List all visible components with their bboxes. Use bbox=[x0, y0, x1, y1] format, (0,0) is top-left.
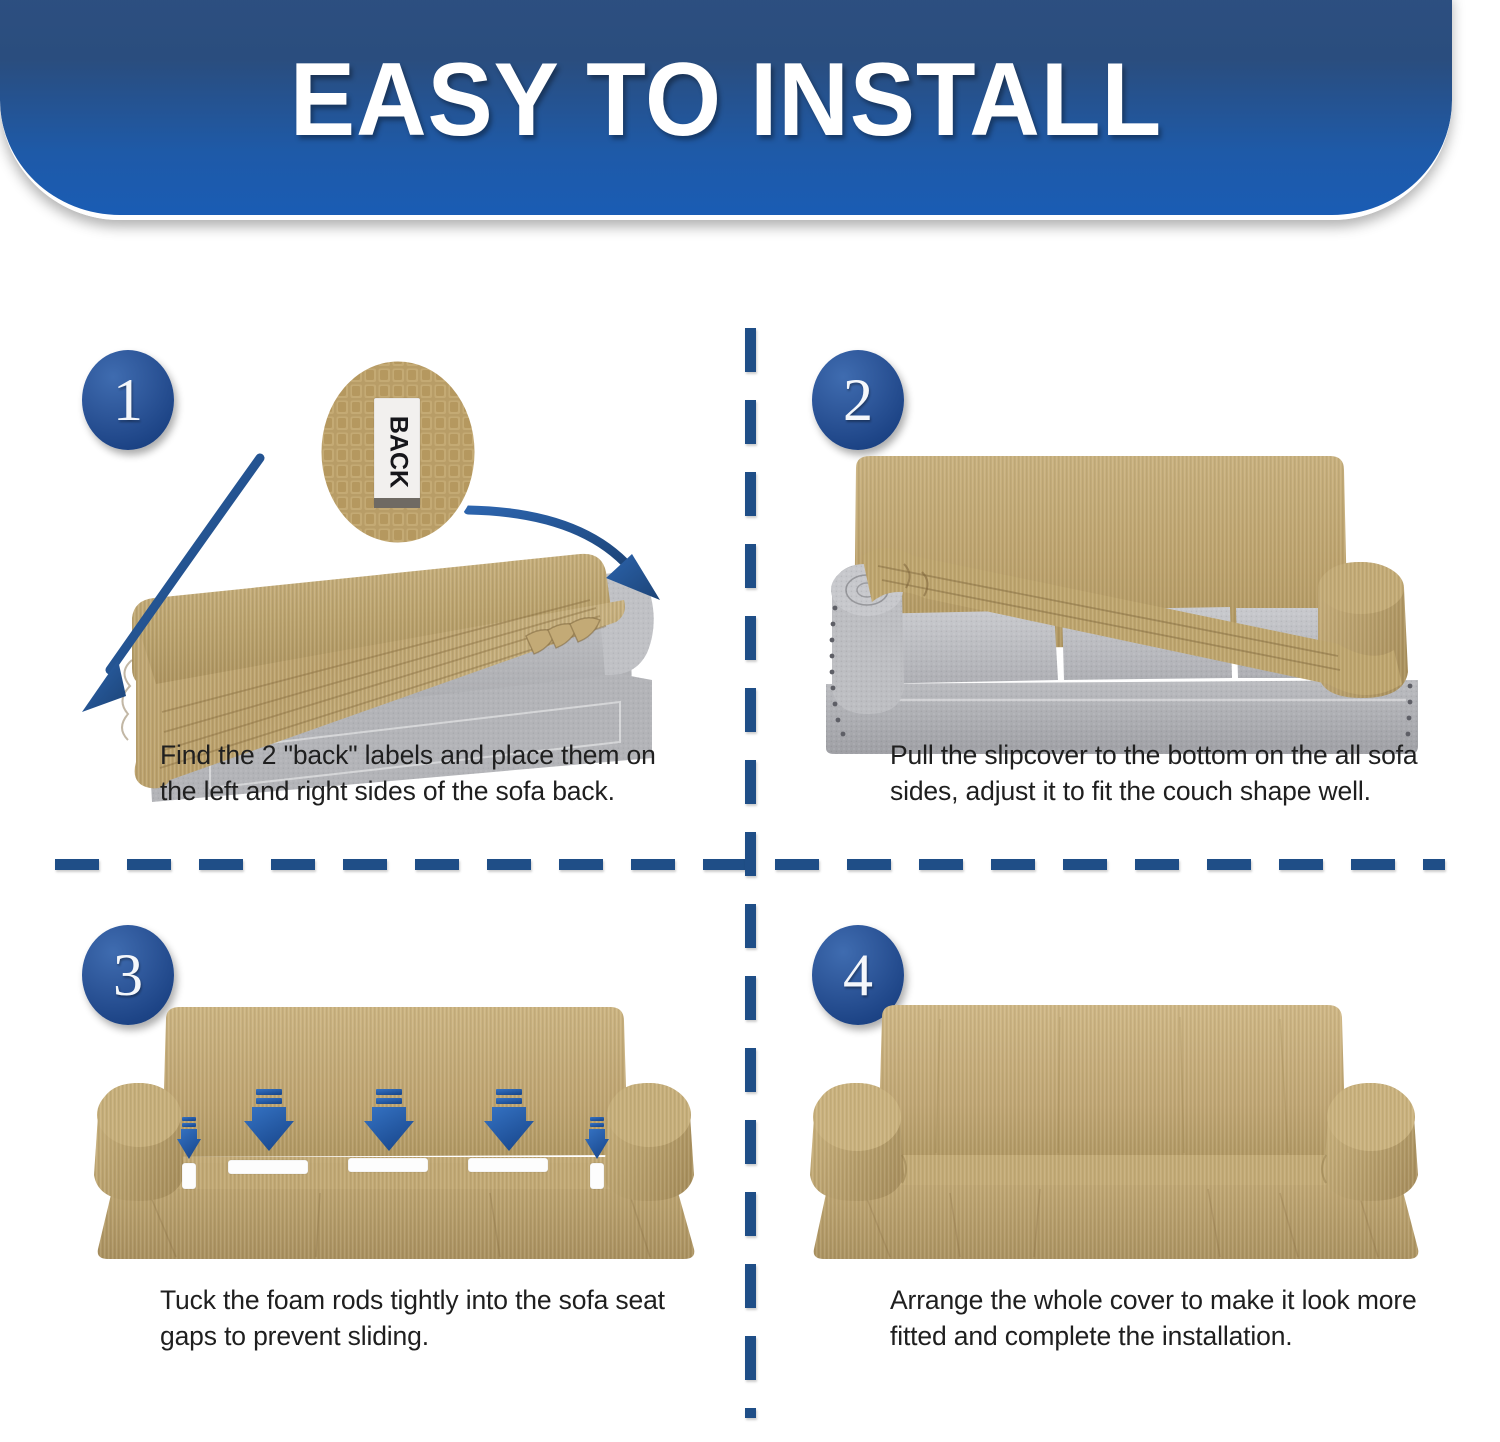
step-number-1: 1 bbox=[113, 370, 143, 430]
illustration-step-3 bbox=[90, 1005, 710, 1265]
step-number-4: 4 bbox=[843, 945, 873, 1005]
step-number-3: 3 bbox=[113, 945, 143, 1005]
step-number-2: 2 bbox=[843, 370, 873, 430]
illustration-step-2 bbox=[818, 448, 1438, 768]
header-banner: EASY TO INSTALL bbox=[0, 0, 1452, 228]
illustration-step-4 bbox=[810, 1005, 1430, 1265]
step-card-4: 4 bbox=[790, 905, 1470, 1425]
header-banner-shape: EASY TO INSTALL bbox=[0, 0, 1452, 220]
step-card-3: 3 bbox=[60, 905, 740, 1425]
step-caption-3: Tuck the foam rods tightly into the sofa… bbox=[160, 1283, 690, 1354]
step-number-badge-1: 1 bbox=[82, 350, 174, 450]
back-label-text: BACK bbox=[384, 416, 412, 488]
step-card-1: 1 bbox=[60, 330, 740, 850]
step-number-badge-2: 2 bbox=[812, 350, 904, 450]
step-caption-4: Arrange the whole cover to make it look … bbox=[890, 1283, 1420, 1354]
step-caption-1: Find the 2 "back" labels and place them … bbox=[160, 738, 690, 809]
back-label-callout: BACK bbox=[308, 352, 488, 552]
vertical-divider bbox=[745, 328, 756, 1418]
step-card-2: 2 bbox=[790, 330, 1470, 850]
step-caption-2: Pull the slipcover to the bottom on the … bbox=[890, 738, 1420, 809]
page-title: EASY TO INSTALL bbox=[290, 48, 1162, 152]
